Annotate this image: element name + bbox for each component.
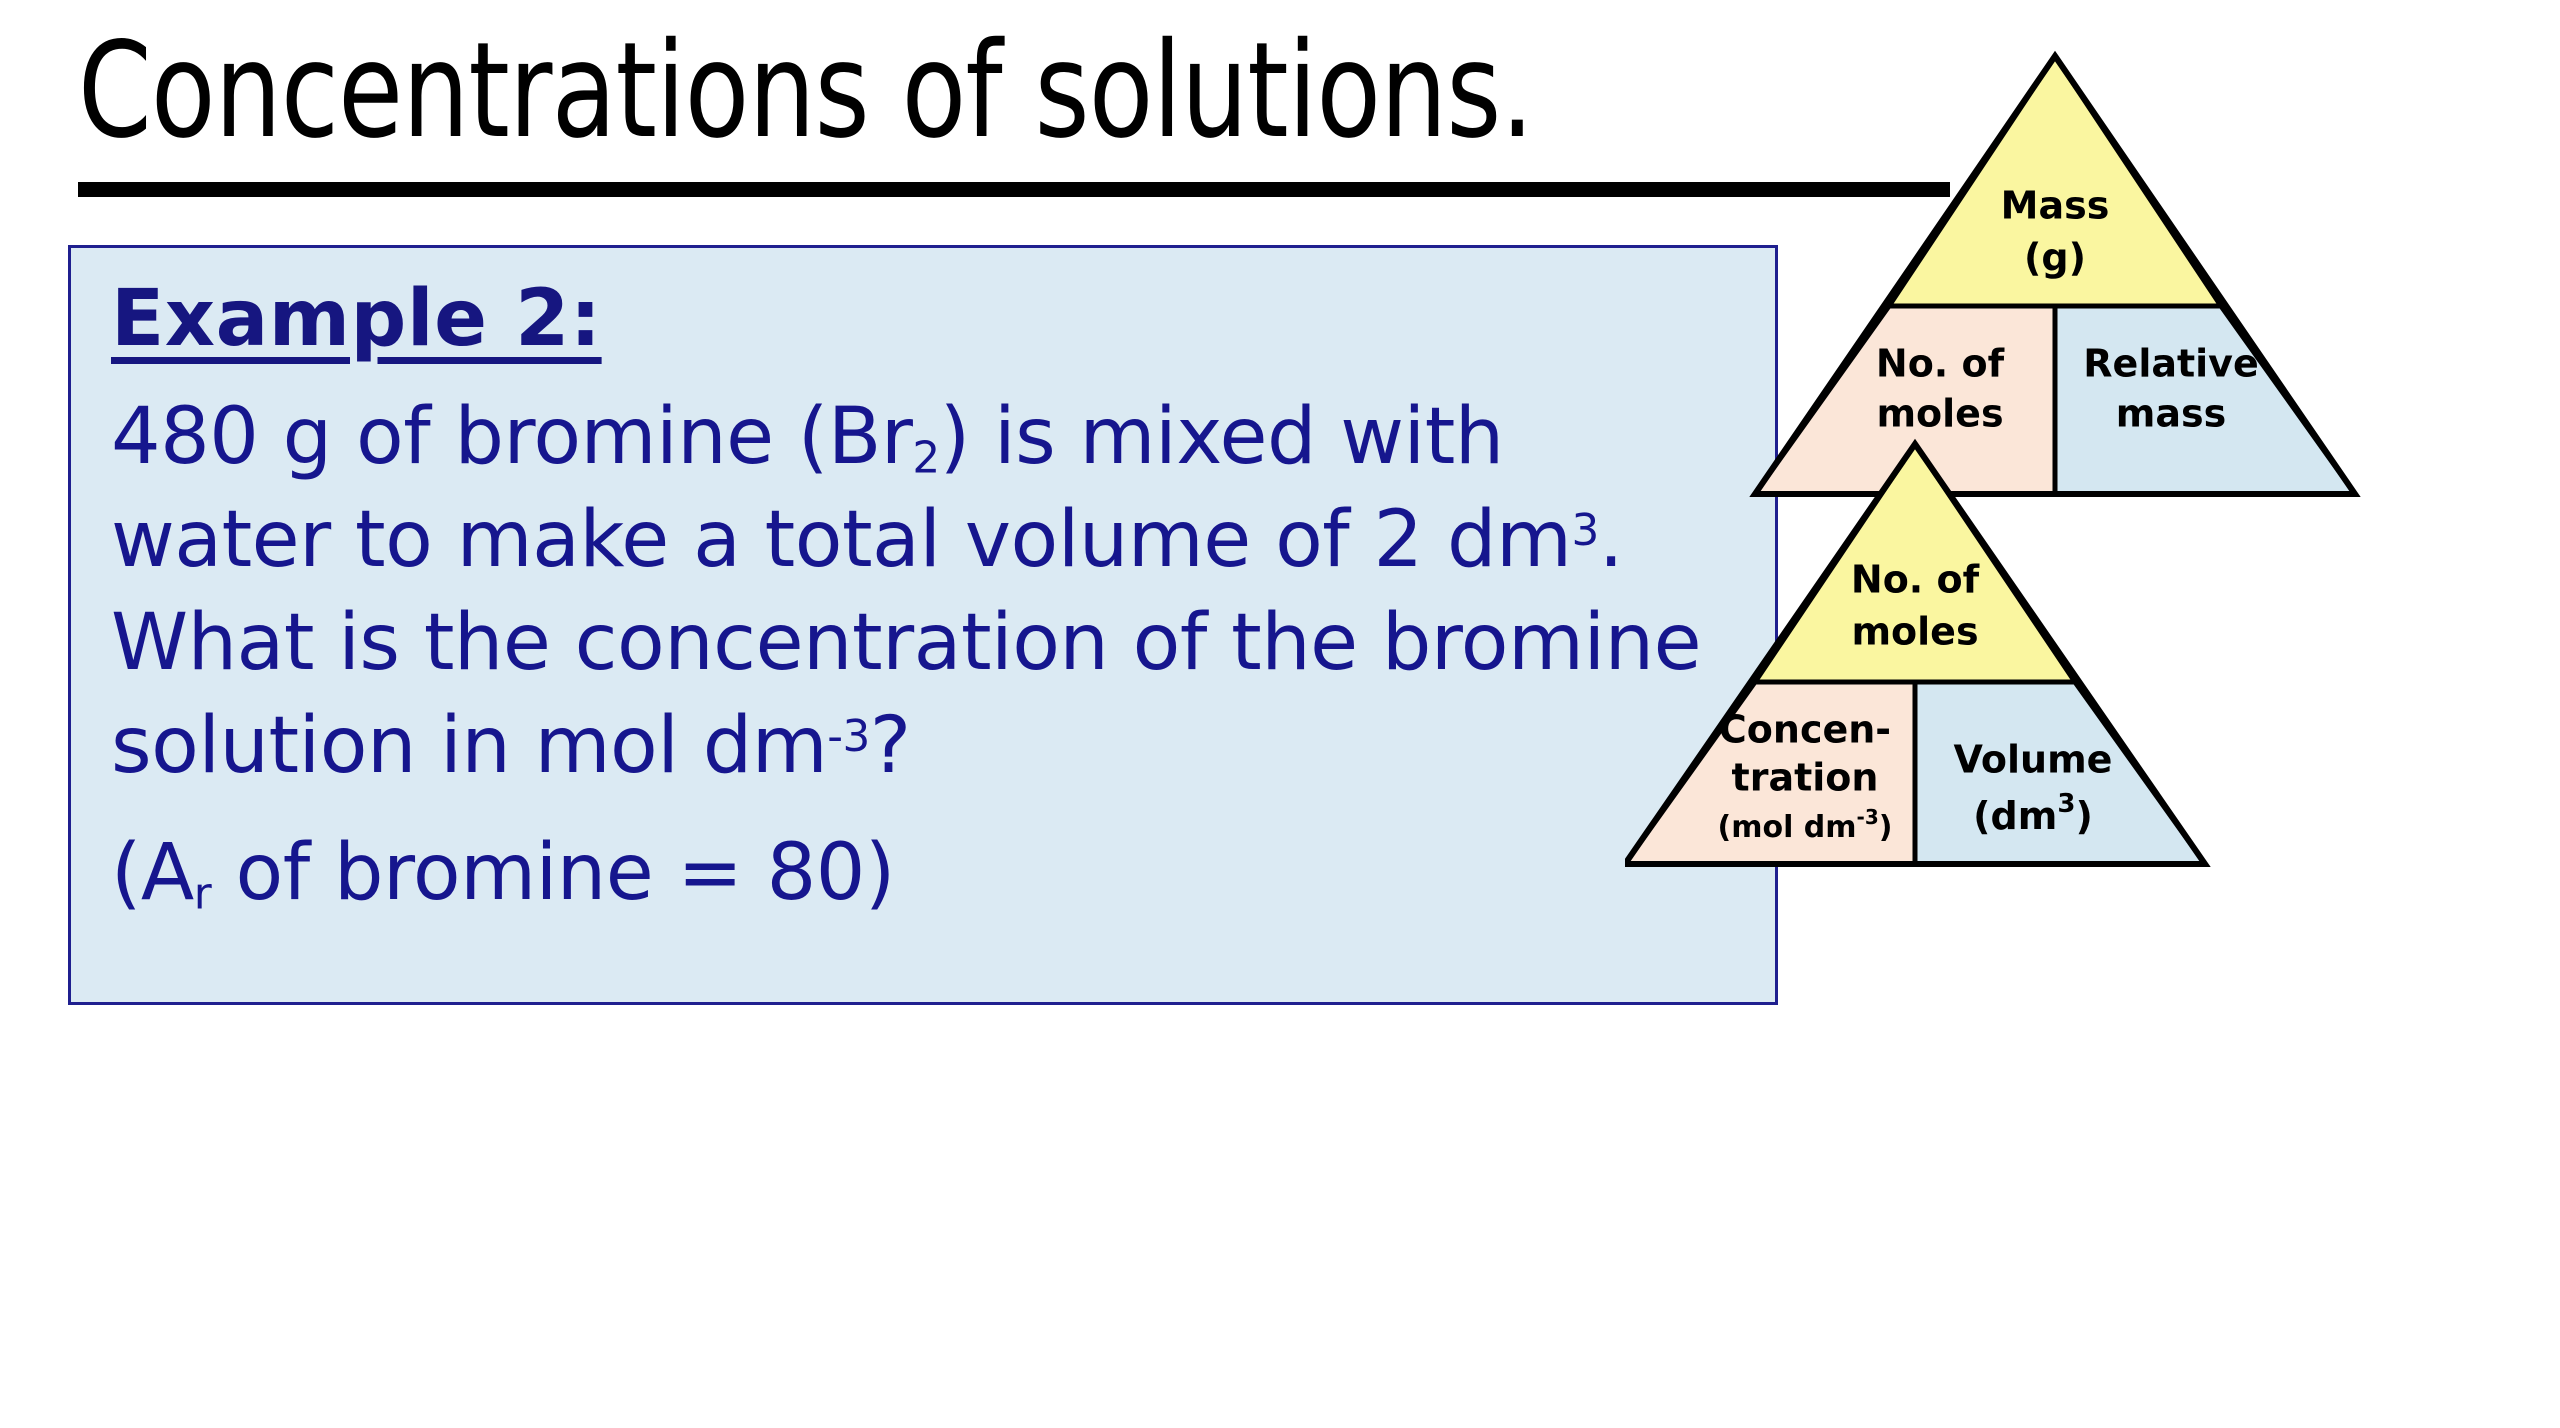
example-heading: Example 2: — [111, 274, 602, 364]
question-text-part-4: ? — [870, 701, 911, 791]
dm-cubed-superscript: 3 — [1571, 505, 1598, 556]
ar-note-part-2: of bromine = 80) — [211, 828, 895, 918]
volume-label: Volume — [1954, 738, 2113, 782]
volume-unit-superscript: 3 — [2057, 789, 2075, 819]
volume-unit-part-2: ) — [2075, 794, 2092, 838]
concentration-unit-part-2: ) — [1879, 810, 1893, 845]
moles-label-line2: moles — [1851, 610, 1978, 654]
mol-dm-minus3-superscript: -3 — [827, 711, 870, 762]
moles-label-line1: No. of — [1851, 558, 1980, 602]
moles-label-line2: moles — [1876, 392, 2003, 436]
concentration-unit-superscript: -3 — [1857, 805, 1879, 829]
ar-subscript: r — [194, 868, 211, 919]
concentration-triangle-svg: No. of moles Concen- tration (mol dm-3) … — [1625, 432, 2545, 1422]
moles-label-line1: No. of — [1876, 342, 2005, 386]
ar-note-part-1: (A — [111, 828, 194, 918]
relative-mass-label-line1: Relative — [2083, 342, 2258, 386]
question-text: 480 g of bromine (Br2) is mixed with wat… — [111, 386, 1737, 798]
volume-unit-label: (dm3) — [1973, 789, 2093, 838]
concentration-label-line2: tration — [1732, 756, 1879, 800]
volume-unit-part-1: (dm — [1973, 794, 2057, 838]
question-text-part-1: 480 g of bromine (Br — [111, 392, 912, 482]
relative-mass-label-line2: mass — [2116, 392, 2226, 436]
example-question-box: Example 2: 480 g of bromine (Br2) is mix… — [68, 245, 1778, 1005]
mass-unit-label: (g) — [2024, 236, 2086, 280]
mass-label: Mass — [2001, 184, 2110, 228]
page-title: Concentrations of solutions. — [78, 22, 1678, 162]
concentration-unit-part-1: (mol dm — [1718, 810, 1857, 845]
mole-concentration-volume-triangle: No. of moles Concen- tration (mol dm-3) … — [1625, 432, 2545, 1422]
concentration-label-line1: Concen- — [1719, 708, 1891, 752]
relative-atomic-mass-note: (Ar of bromine = 80) — [111, 822, 1737, 925]
bromine-subscript: 2 — [912, 433, 939, 484]
